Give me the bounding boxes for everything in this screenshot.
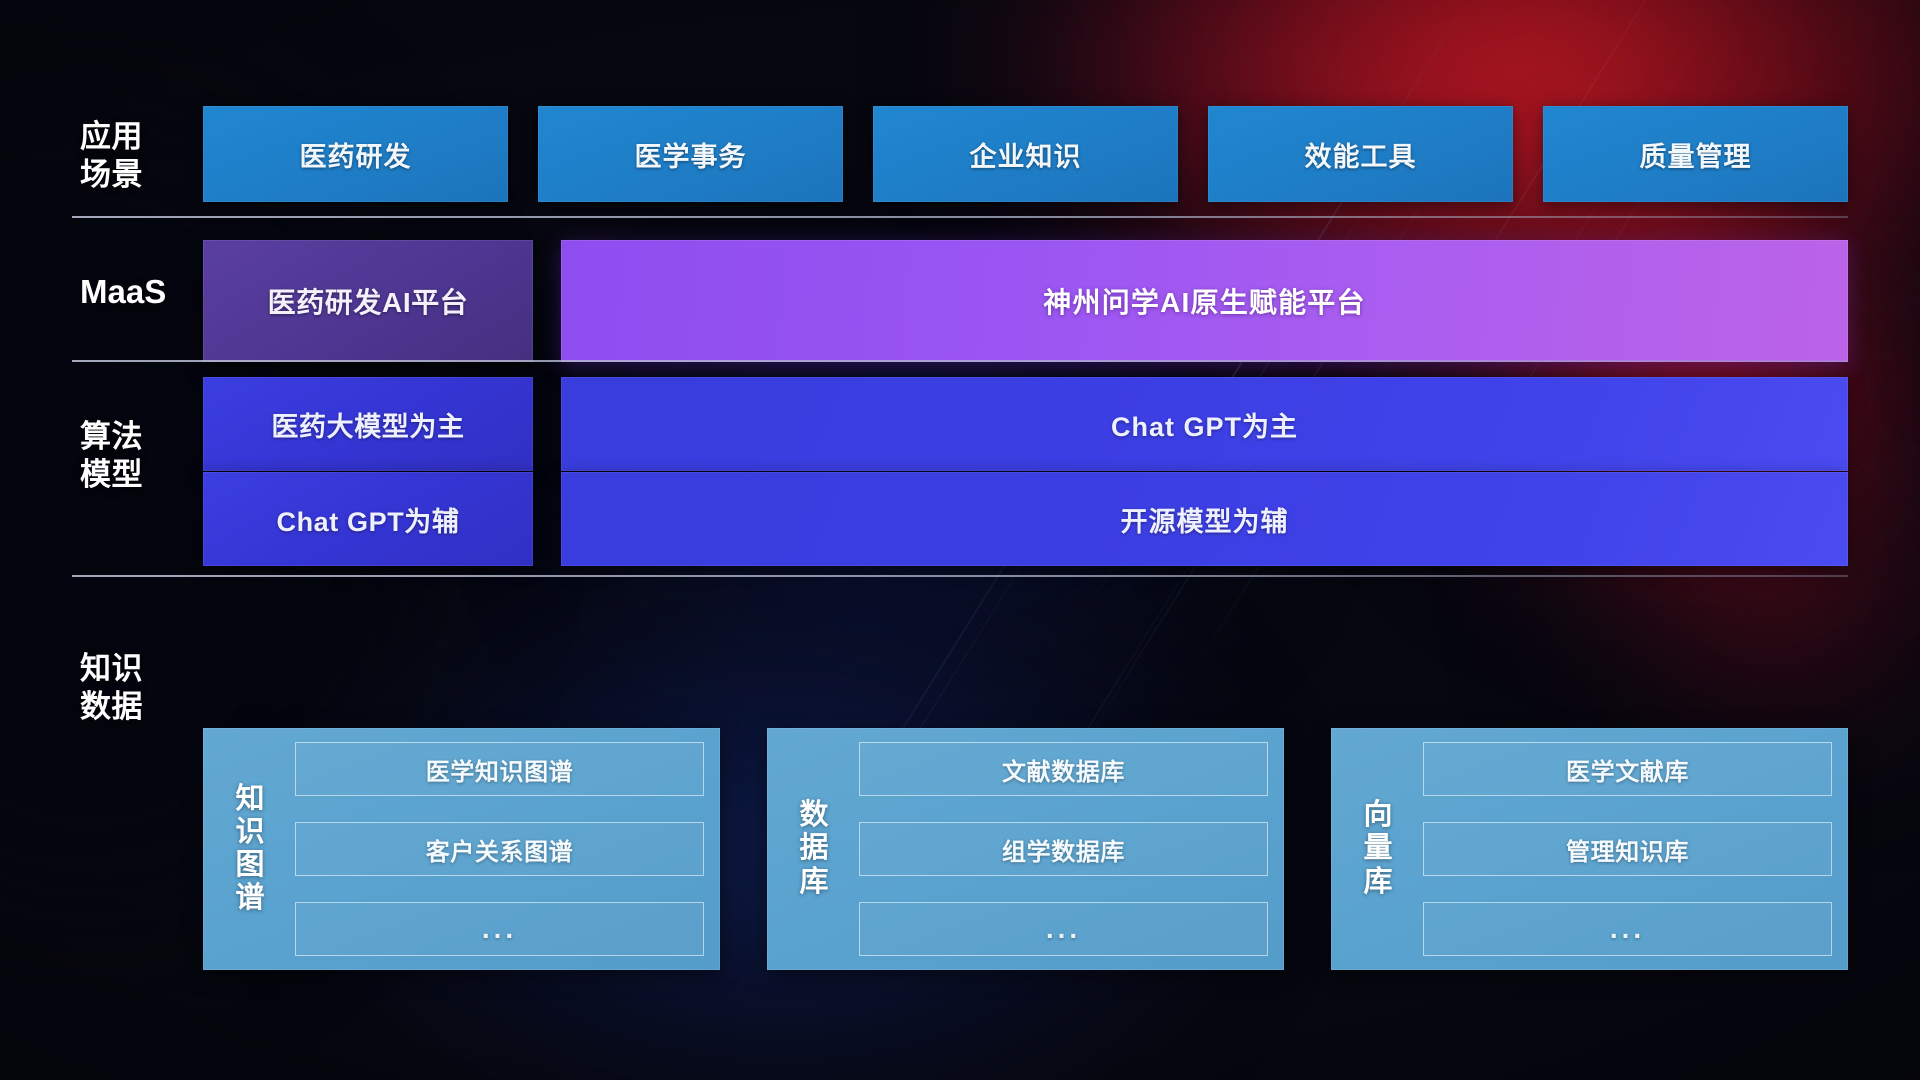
panel-title-char: 向 xyxy=(1363,799,1392,832)
panel-title-char: 库 xyxy=(1363,866,1392,899)
divider-application-maas xyxy=(72,216,1848,218)
layer-label-algorithm-line1: 算法 xyxy=(80,418,198,456)
divider-maas-algorithm xyxy=(72,360,1848,362)
knowledge-panel-title-knowledge-graph: 知 识 图 谱 xyxy=(219,742,281,956)
knowledge-item-omics-database[interactable]: 组学数据库 xyxy=(859,822,1268,876)
knowledge-data-panels: 知 识 图 谱 医学知识图谱 客户关系图谱 ... 数 据 库 文献数据库 组学… xyxy=(203,728,1848,970)
app-box-quality-management[interactable]: 质量管理 xyxy=(1543,106,1848,202)
application-scenario-boxes: 医药研发 医学事务 企业知识 效能工具 质量管理 xyxy=(203,106,1848,202)
divider-algorithm-knowledge xyxy=(72,575,1848,577)
algorithm-row-secondary: Chat GPT为辅 开源模型为辅 xyxy=(203,472,1848,566)
knowledge-item-more-kg[interactable]: ... xyxy=(295,902,704,956)
algo-box-pharma-llm-primary[interactable]: 医药大模型为主 xyxy=(203,377,533,471)
architecture-diagram: 应用 场景 医药研发 医学事务 企业知识 效能工具 质量管理 MaaS 医药研发… xyxy=(0,0,1920,1080)
knowledge-panel-items-vector-store: 医学文献库 管理知识库 ... xyxy=(1409,742,1832,956)
layer-label-application-line2: 场景 xyxy=(80,156,198,194)
layer-label-application-line1: 应用 xyxy=(80,118,198,156)
app-box-medical-affairs[interactable]: 医学事务 xyxy=(538,106,843,202)
algo-box-opensource-secondary[interactable]: 开源模型为辅 xyxy=(561,472,1848,566)
maas-box-shenzhou-wenxue-platform[interactable]: 神州问学AI原生赋能平台 xyxy=(561,240,1848,362)
knowledge-panel-title-vector-store: 向 量 库 xyxy=(1347,742,1409,956)
app-box-efficiency-tools[interactable]: 效能工具 xyxy=(1208,106,1513,202)
layer-label-maas: MaaS xyxy=(80,272,198,312)
knowledge-item-medical-literature-store[interactable]: 医学文献库 xyxy=(1423,742,1832,796)
layer-label-knowledge: 知识 数据 xyxy=(80,650,198,726)
knowledge-panel-title-database: 数 据 库 xyxy=(783,742,845,956)
knowledge-item-customer-relation-graph[interactable]: 客户关系图谱 xyxy=(295,822,704,876)
knowledge-panel-items-knowledge-graph: 医学知识图谱 客户关系图谱 ... xyxy=(281,742,704,956)
knowledge-item-more-vs[interactable]: ... xyxy=(1423,902,1832,956)
knowledge-item-literature-database[interactable]: 文献数据库 xyxy=(859,742,1268,796)
knowledge-panel-vector-store[interactable]: 向 量 库 医学文献库 管理知识库 ... xyxy=(1331,728,1848,970)
panel-title-char: 据 xyxy=(799,832,828,865)
panel-title-char: 谱 xyxy=(235,882,264,915)
knowledge-panel-knowledge-graph[interactable]: 知 识 图 谱 医学知识图谱 客户关系图谱 ... xyxy=(203,728,720,970)
panel-title-char: 数 xyxy=(799,799,828,832)
layer-label-application: 应用 场景 xyxy=(80,118,198,194)
maas-box-pharma-ai-platform[interactable]: 医药研发AI平台 xyxy=(203,240,533,362)
maas-layer-boxes: 医药研发AI平台 神州问学AI原生赋能平台 xyxy=(203,240,1848,362)
knowledge-item-more-db[interactable]: ... xyxy=(859,902,1268,956)
app-box-pharma-rnd[interactable]: 医药研发 xyxy=(203,106,508,202)
app-box-enterprise-knowledge[interactable]: 企业知识 xyxy=(873,106,1178,202)
knowledge-item-medical-knowledge-graph[interactable]: 医学知识图谱 xyxy=(295,742,704,796)
layer-label-algorithm-line2: 模型 xyxy=(80,456,198,494)
panel-title-char: 识 xyxy=(235,816,264,849)
panel-title-char: 图 xyxy=(235,849,264,882)
panel-title-char: 量 xyxy=(1363,832,1392,865)
layer-label-maas-line1: MaaS xyxy=(80,272,198,312)
algo-box-chatgpt-primary[interactable]: Chat GPT为主 xyxy=(561,377,1848,471)
panel-title-char: 库 xyxy=(799,866,828,899)
layer-label-algorithm: 算法 模型 xyxy=(80,418,198,494)
algo-box-chatgpt-secondary[interactable]: Chat GPT为辅 xyxy=(203,472,533,566)
algorithm-row-primary: 医药大模型为主 Chat GPT为主 xyxy=(203,377,1848,471)
layer-label-knowledge-line2: 数据 xyxy=(80,688,198,726)
knowledge-panel-items-database: 文献数据库 组学数据库 ... xyxy=(845,742,1268,956)
layer-label-knowledge-line1: 知识 xyxy=(80,650,198,688)
panel-title-char: 知 xyxy=(235,783,264,816)
knowledge-panel-database[interactable]: 数 据 库 文献数据库 组学数据库 ... xyxy=(767,728,1284,970)
knowledge-item-management-knowledge-store[interactable]: 管理知识库 xyxy=(1423,822,1832,876)
